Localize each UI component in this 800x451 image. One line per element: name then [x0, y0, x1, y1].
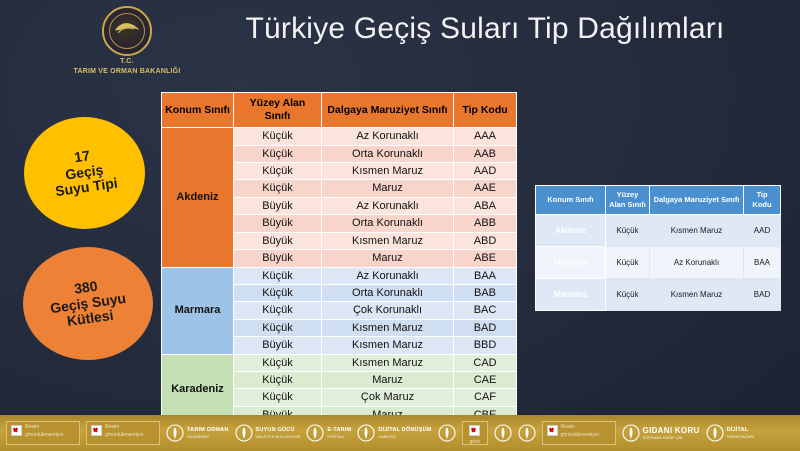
ministry-label: TARIM VE ORMAN BAKANLIĞI: [52, 68, 202, 75]
cell-tip-kodu: CAD: [454, 354, 517, 371]
cell-yuzey-alan: Büyük: [234, 250, 322, 267]
side-cell-tip: BAA: [744, 246, 781, 278]
side-table-row: MarmaraKüçükKısmen MaruzBAD: [536, 278, 781, 310]
dijital-tarim-pazari-icon: [706, 424, 724, 442]
group-cell-karadeniz: Karadeniz: [162, 354, 234, 424]
cell-tip-kodu: ABA: [454, 197, 517, 214]
cell-yuzey-alan: Küçük: [234, 145, 322, 162]
table-header-row: Konum Sınıfı Yüzey Alan Sınıfı Dalgaya M…: [162, 93, 517, 128]
logo-label: TARIM ORMANAKADEMİSİ: [187, 427, 229, 439]
col-konum-sinifi: Konum Sınıfı: [162, 93, 234, 128]
tc-label: T.C.: [92, 58, 162, 65]
broken-image-4: Resimgörüntülenemiyor.: [542, 421, 616, 445]
broken-image-icon: [91, 425, 102, 436]
dijital-tarim-pazari-logo: DİJİTALTARIM PAZARI: [706, 424, 754, 442]
gidani-koru-icon: [622, 424, 640, 442]
cell-yuzey-alan: Büyük: [234, 197, 322, 214]
cell-dalgaya-maruziyet: Maruz: [322, 180, 454, 197]
cell-yuzey-alan: Büyük: [234, 337, 322, 354]
cell-dalgaya-maruziyet: Çok Maruz: [322, 389, 454, 406]
col-tip-kodu: Tip Kodu: [454, 93, 517, 128]
broken-image-2: Resimgörüntülenemiyor.: [86, 421, 160, 445]
col-dalgaya-maruziyet-sinifi: Dalgaya Maruziyet Sınıfı: [322, 93, 454, 128]
col-yuzey-alan-sinifi: Yüzey Alan Sınıfı: [234, 93, 322, 128]
side-cell-yuzey: Küçük: [606, 214, 650, 246]
dijital-donusum-hamlesi-icon: [357, 424, 375, 442]
page-title: Türkiye Geçiş Suları Tip Dağılımları: [205, 12, 765, 46]
cell-yuzey-alan: Küçük: [234, 284, 322, 301]
cell-dalgaya-maruziyet: Orta Korunaklı: [322, 284, 454, 301]
cell-tip-kodu: BAA: [454, 267, 517, 284]
cell-tip-kodu: ABE: [454, 250, 517, 267]
table-row: MarmaraKüçükAz KorunaklıBAA: [162, 267, 517, 284]
ministry-branding: T.C. TARIM VE ORMAN BAKANLIĞI: [92, 6, 162, 65]
logo-label: DİJİTAL DÖNÜŞÜMHAMLESİ: [378, 427, 431, 439]
stat-bubble-gecis-suyu-tipi: 17 Geçiş Suyu Tipi: [24, 117, 145, 229]
cell-tip-kodu: BAC: [454, 302, 517, 319]
bottom-logo-bar: Resimgörüntülenemiyor.Resimgörüntülenemi…: [0, 415, 800, 451]
cell-tip-kodu: ABB: [454, 215, 517, 232]
cell-tip-kodu: AAA: [454, 128, 517, 145]
placeholder-caption: Resimgörüntülenemiyor.: [25, 424, 65, 439]
cell-tip-kodu: ABD: [454, 232, 517, 249]
wheat-field-icon: [494, 424, 512, 442]
tarim-orman-akademisi-logo: TARIM ORMANAKADEMİSİ: [166, 424, 229, 442]
cell-dalgaya-maruziyet: Kısmen Maruz: [322, 163, 454, 180]
side-cell-yuzey: Küçük: [606, 246, 650, 278]
broken-image-icon: [469, 425, 480, 436]
gidani-koru-logo: GIDANI KORUSOFRANA SAHİP ÇIK: [622, 424, 700, 442]
cell-yuzey-alan: Küçük: [234, 371, 322, 388]
cell-dalgaya-maruziyet: Az Korunaklı: [322, 267, 454, 284]
broken-image-3: görü: [462, 421, 488, 445]
table-row: KaradenizKüçükKısmen MaruzCAD: [162, 354, 517, 371]
side-cell-konum: Marmara: [536, 246, 606, 278]
cell-dalgaya-maruziyet: Maruz: [322, 371, 454, 388]
cell-dalgaya-maruziyet: Kısmen Maruz: [322, 337, 454, 354]
logo-label: DİJİTALTARIM PAZARI: [727, 427, 754, 439]
cell-dalgaya-maruziyet: Kısmen Maruz: [322, 319, 454, 336]
eagle-icon: [114, 21, 140, 35]
side-cell-dalga: Az Korunaklı: [650, 246, 744, 278]
side-table-row: MarmaraKüçükAz KorunaklıBAA: [536, 246, 781, 278]
cell-yuzey-alan: Küçük: [234, 163, 322, 180]
cell-tip-kodu: BBD: [454, 337, 517, 354]
placeholder-caption: görü: [470, 439, 480, 447]
dijital-donusum-hamlesi-logo: DİJİTAL DÖNÜŞÜMHAMLESİ: [357, 424, 431, 442]
speech-bubble-icon: [438, 424, 456, 442]
cell-dalgaya-maruziyet: Kısmen Maruz: [322, 232, 454, 249]
cell-tip-kodu: AAD: [454, 163, 517, 180]
speech-bubble-logo: [438, 424, 456, 442]
wheat-field-logo: [494, 424, 512, 442]
cell-dalgaya-maruziyet: Çok Korunaklı: [322, 302, 454, 319]
group-cell-marmara: Marmara: [162, 267, 234, 354]
side-col-tip-kodu: Tip Kodu: [744, 186, 781, 215]
stat-line3: Suyu Tipi: [54, 175, 118, 200]
cell-yuzey-alan: Küçük: [234, 389, 322, 406]
side-col-dalgaya-maruziyet-sinifi: Dalgaya Maruziyet Sınıfı: [650, 186, 744, 215]
placeholder-caption: Resimgörüntülenemiyor.: [105, 424, 145, 439]
ministry-seal-logo: [518, 424, 536, 442]
cell-yuzey-alan: Küçük: [234, 267, 322, 284]
group-cell-akdeniz: Akdeniz: [162, 128, 234, 267]
suyun-gucu-logo: SUYUN GÜCÜMİLLETLE BULUŞUYOR: [235, 424, 301, 442]
ministry-seal-icon: [518, 424, 536, 442]
side-cell-konum: Marmara: [536, 278, 606, 310]
side-table-row: AkdenizKüçükKısmen MaruzAAD: [536, 214, 781, 246]
logo-label: E-TARIMPORTALI: [327, 427, 351, 439]
tarim-orman-akademisi-icon: [166, 424, 184, 442]
cell-tip-kodu: BAD: [454, 319, 517, 336]
cell-yuzey-alan: Küçük: [234, 128, 322, 145]
logo-label: SUYUN GÜCÜMİLLETLE BULUŞUYOR: [256, 427, 301, 439]
cell-yuzey-alan: Küçük: [234, 302, 322, 319]
side-col-yuzey-alan-sinifi: Yüzey Alan Sınıfı: [606, 186, 650, 215]
cell-dalgaya-maruziyet: Az Korunaklı: [322, 197, 454, 214]
cell-dalgaya-maruziyet: Kısmen Maruz: [322, 354, 454, 371]
cell-dalgaya-maruziyet: Orta Korunaklı: [322, 145, 454, 162]
e-tarim-portali-icon: [306, 424, 324, 442]
broken-image-1: Resimgörüntülenemiyor.: [6, 421, 80, 445]
cell-yuzey-alan: Küçük: [234, 180, 322, 197]
placeholder-caption: Resimgörüntülenemiyor.: [561, 424, 601, 439]
cell-dalgaya-maruziyet: Maruz: [322, 250, 454, 267]
logo-label: GIDANI KORUSOFRANA SAHİP ÇIK: [643, 426, 700, 440]
broken-image-icon: [547, 425, 558, 436]
cell-dalgaya-maruziyet: Orta Korunaklı: [322, 215, 454, 232]
side-cell-tip: AAD: [744, 214, 781, 246]
side-cell-dalga: Kısmen Maruz: [650, 278, 744, 310]
cell-yuzey-alan: Küçük: [234, 354, 322, 371]
side-cell-dalga: Kısmen Maruz: [650, 214, 744, 246]
main-type-distribution-table: Konum Sınıfı Yüzey Alan Sınıfı Dalgaya M…: [161, 92, 517, 424]
cell-dalgaya-maruziyet: Az Korunaklı: [322, 128, 454, 145]
slide-canvas: T.C. TARIM VE ORMAN BAKANLIĞI Türkiye Ge…: [0, 0, 800, 451]
side-cell-konum: Akdeniz: [536, 214, 606, 246]
sample-types-table: Konum Sınıfı Yüzey Alan Sınıfı Dalgaya M…: [535, 185, 781, 311]
suyun-gucu-icon: [235, 424, 253, 442]
side-cell-yuzey: Küçük: [606, 278, 650, 310]
cell-tip-kodu: BAB: [454, 284, 517, 301]
cell-tip-kodu: CAF: [454, 389, 517, 406]
cell-yuzey-alan: Büyük: [234, 232, 322, 249]
turkish-ministry-emblem: [102, 6, 152, 56]
cell-tip-kodu: CAE: [454, 371, 517, 388]
side-col-konum-sinifi: Konum Sınıfı: [536, 186, 606, 215]
side-table-header-row: Konum Sınıfı Yüzey Alan Sınıfı Dalgaya M…: [536, 186, 781, 215]
cell-yuzey-alan: Küçük: [234, 319, 322, 336]
stat-bubble-gecis-suyu-kutlesi: 380 Geçiş Suyu Kütlesi: [23, 247, 153, 360]
side-cell-tip: BAD: [744, 278, 781, 310]
e-tarim-portali-logo: E-TARIMPORTALI: [306, 424, 351, 442]
cell-yuzey-alan: Büyük: [234, 215, 322, 232]
broken-image-icon: [11, 425, 22, 436]
cell-tip-kodu: AAB: [454, 145, 517, 162]
cell-tip-kodu: AAE: [454, 180, 517, 197]
table-row: AkdenizKüçükAz KorunaklıAAA: [162, 128, 517, 145]
